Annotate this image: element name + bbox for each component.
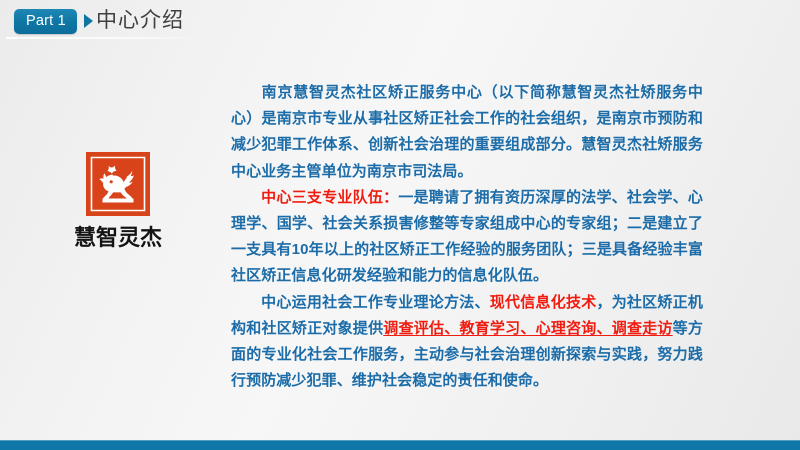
paragraph-3-highlight-2: 调查评估、教育学习、心理咨询、调查走访	[383, 320, 672, 337]
badge-arrow-icon	[84, 14, 93, 28]
body-content: 南京慧智灵杰社区矫正服务中心（以下简称慧智灵杰社矫服务中心）是南京市专业从事社区…	[231, 80, 703, 394]
part-badge: Part 1	[14, 9, 77, 34]
slide-canvas: Part 1 中心介绍 慧智灵杰 南京慧智灵杰社区矫正服务中心（	[0, 0, 800, 450]
paragraph-3: 中心运用社会工作专业理论方法、现代信息化技术，为社区矫正机构和社区矫正对象提供调…	[231, 290, 703, 395]
paragraph-2-heading: 中心三支专业队伍：	[261, 189, 398, 206]
part-badge-label: Part 1	[26, 14, 66, 29]
paragraph-3-segment-1: 中心运用社会工作专业理论方法、	[261, 294, 490, 311]
organization-logo: 慧智灵杰	[58, 152, 178, 251]
paragraph-1: 南京慧智灵杰社区矫正服务中心（以下简称慧智灵杰社矫服务中心）是南京市专业从事社区…	[231, 80, 703, 185]
footer-accent-highlight	[0, 440, 800, 441]
xiezhi-beast-emblem-icon	[86, 152, 150, 216]
paragraph-1-text: 南京慧智灵杰社区矫正服务中心（以下简称慧智灵杰社矫服务中心）是南京市专业从事社区…	[231, 84, 703, 180]
footer-accent-bar	[0, 440, 800, 450]
header-divider	[6, 37, 202, 39]
paragraph-2: 中心三支专业队伍：一是聘请了拥有资历深厚的法学、社会学、心理学、国学、社会关系损…	[231, 185, 703, 290]
page-title: 中心介绍	[96, 7, 184, 35]
slide-header: Part 1 中心介绍	[0, 0, 800, 40]
paragraph-3-highlight-1: 现代信息化技术	[490, 294, 597, 311]
organization-name: 慧智灵杰	[58, 225, 178, 251]
